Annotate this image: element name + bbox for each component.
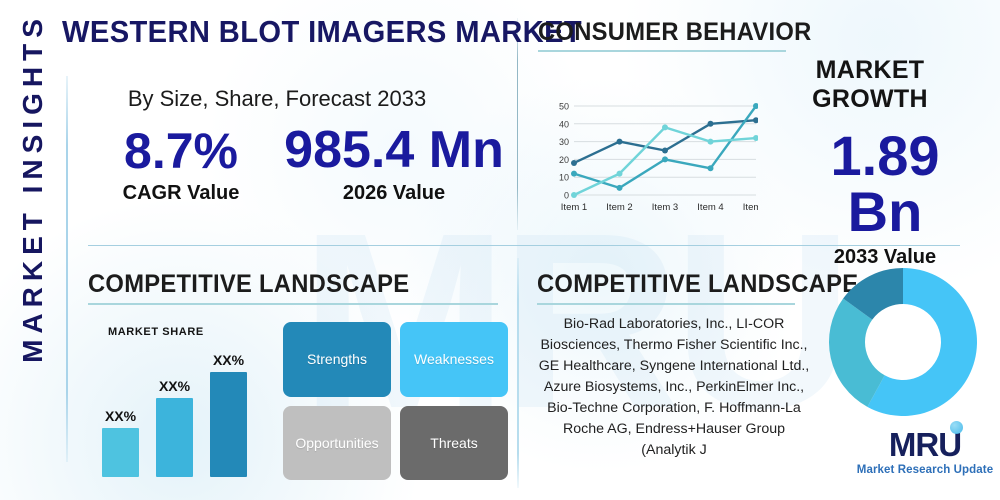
market-share-bar-chart: XX%XX%XX% [98,322,268,477]
vertical-divider-top [517,18,518,230]
rail-divider [66,76,68,462]
section-rule-competitive-right [537,303,795,305]
svg-text:10: 10 [559,173,569,183]
stat-base-year: 985.4 Mn 2026 Value [280,124,508,205]
market-share-bar: XX% [206,352,251,477]
market-insights-rail: MARKET INSIGHTS [17,0,63,398]
svg-text:50: 50 [559,102,569,112]
logo-mark: MRU [889,428,961,461]
stat-cagr: 8.7% CAGR Value [90,126,272,205]
section-heading-market-growth: MARKET GROWTH [770,56,970,114]
svg-text:40: 40 [559,119,569,129]
market-share-bar: XX% [98,408,143,477]
stat-forecast-year: 1.89 Bn 2033 Value [790,128,980,269]
swot-strengths[interactable]: Strengths [283,322,391,397]
svg-text:Item 4: Item 4 [697,202,723,213]
section-rule-competitive-left [88,303,498,305]
section-heading-consumer-behavior: CONSUMER BEHAVIOR [538,18,812,47]
svg-text:Item 3: Item 3 [652,202,678,213]
section-rule-consumer-behavior [538,50,786,52]
market-share-bar: XX% [152,378,197,477]
stat-base-year-label: 2026 Value [280,182,508,205]
svg-text:30: 30 [559,137,569,147]
market-share-bar-fill [156,398,193,477]
bubble-icon [950,421,963,434]
market-share-bar-label: XX% [152,378,197,394]
page-title: WESTERN BLOT IMAGERS MARKET [62,14,466,54]
logo-tagline: Market Research Update [855,464,995,476]
swot-grid: Strengths Weaknesses Opportunities Threa… [283,322,508,480]
swot-threats[interactable]: Threats [400,406,508,481]
market-share-bar-fill [102,428,139,477]
market-share-bar-label: XX% [206,352,251,368]
page-subtitle: By Size, Share, Forecast 2033 [72,86,482,112]
swot-weaknesses[interactable]: Weaknesses [400,322,508,397]
brand-logo[interactable]: MRU Market Research Update [855,428,995,476]
donut-chart-svg [827,266,979,418]
svg-text:Item 1: Item 1 [561,202,587,213]
svg-text:20: 20 [559,155,569,165]
svg-text:0: 0 [564,191,569,201]
vertical-divider-bottom [517,258,519,488]
stat-forecast-year-value: 1.89 Bn [790,128,980,240]
stat-cagr-label: CAGR Value [90,182,272,205]
swot-opportunities[interactable]: Opportunities [283,406,391,481]
section-heading-competitive-landscape-left: COMPETITIVE LANDSCAPE [88,270,409,299]
market-share-donut-chart [827,266,979,418]
line-chart-svg: 01020304050Item 1Item 2Item 3Item 4Item … [548,100,758,218]
company-list: Bio-Rad Laboratories, Inc., LI-COR Biosc… [534,314,814,461]
logo-mark-text: MRU [889,426,961,463]
svg-text:Item 2: Item 2 [606,202,632,213]
stat-base-year-value: 985.4 Mn [280,124,508,176]
market-share-bar-label: XX% [98,408,143,424]
svg-text:Item 5: Item 5 [743,202,758,213]
market-share-bar-fill [210,372,247,477]
consumer-behavior-line-chart: 01020304050Item 1Item 2Item 3Item 4Item … [548,100,758,218]
stat-cagr-value: 8.7% [90,126,272,176]
infographic-canvas: MRU MARKET INSIGHTS WESTERN BLOT IMAGERS… [0,0,1000,500]
section-heading-competitive-landscape-right: COMPETITIVE LANDSCAPE [537,270,858,299]
